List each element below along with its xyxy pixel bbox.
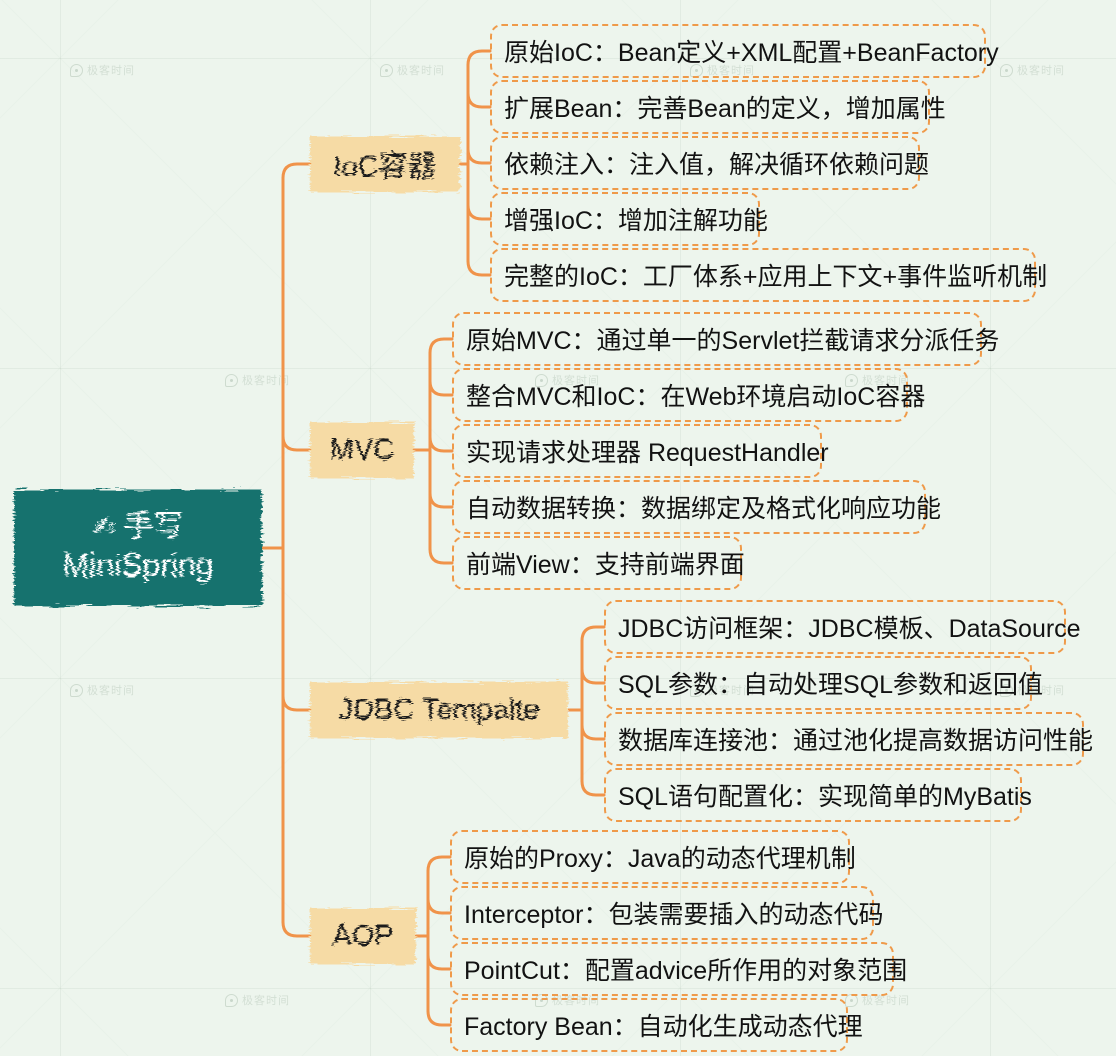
- leaf-node-4-4[interactable]: Factory Bean：自动化生成动态代理: [450, 998, 848, 1052]
- watermark-label: 极客时间: [397, 62, 445, 78]
- leaf-label: Factory Bean：自动化生成动态代理: [464, 1007, 863, 1043]
- leaf-label: 完整的IoC：工厂体系+应用上下文+事件监听机制: [504, 257, 1047, 293]
- leaf-node-1-5[interactable]: 完整的IoC：工厂体系+应用上下文+事件监听机制: [490, 248, 1036, 302]
- watermark-label: 极客时间: [87, 682, 135, 698]
- leaf-label: 数据库连接池：通过池化提高数据访问性能: [618, 721, 1093, 757]
- watermark: 极客时间: [225, 372, 290, 388]
- mindmap-canvas: 极客时间极客时间极客时间极客时间极客时间极客时间极客时间极客时间极客时间极客时间…: [0, 0, 1116, 1056]
- leaf-node-2-2[interactable]: 整合MVC和IoC：在Web环境启动IoC容器: [452, 368, 908, 422]
- branch-node-4[interactable]: AOP: [310, 908, 416, 964]
- watermark-label: 极客时间: [242, 372, 290, 388]
- leaf-label: 增强IoC：增加注解功能: [504, 201, 768, 237]
- branch-node-3[interactable]: JDBC Tempalte: [310, 682, 568, 738]
- leaf-node-1-1[interactable]: 原始IoC：Bean定义+XML配置+BeanFactory: [490, 24, 986, 78]
- location-pin-icon: [225, 994, 238, 1007]
- leaf-node-2-1[interactable]: 原始MVC：通过单一的Servlet拦截请求分派任务: [452, 312, 982, 366]
- branch-node-2[interactable]: MVC: [310, 422, 414, 478]
- watermark: 极客时间: [70, 62, 135, 78]
- root-label-handwrite: 手写: [123, 510, 183, 545]
- location-pin-icon: [1000, 64, 1013, 77]
- leaf-node-2-4[interactable]: 自动数据转换：数据绑定及格式化响应功能: [452, 480, 926, 534]
- watermark: 极客时间: [70, 682, 135, 698]
- leaf-node-4-2[interactable]: Interceptor：包装需要插入的动态代码: [450, 886, 874, 940]
- leaf-node-1-4[interactable]: 增强IoC：增加注解功能: [490, 192, 760, 246]
- branch-label: AOP: [332, 920, 393, 953]
- leaf-node-3-1[interactable]: JDBC访问框架：JDBC模板、DataSource: [604, 600, 1066, 654]
- leaf-label: JDBC访问框架：JDBC模板、DataSource: [618, 609, 1081, 645]
- leaf-node-1-2[interactable]: 扩展Bean：完善Bean的定义，增加属性: [490, 80, 930, 134]
- watermark: 极客时间: [225, 992, 290, 1008]
- watermark-label: 极客时间: [87, 62, 135, 78]
- leaf-node-3-4[interactable]: SQL语句配置化：实现简单的MyBatis: [604, 768, 1022, 822]
- branch-label: MVC: [330, 434, 394, 467]
- leaf-label: SQL语句配置化：实现简单的MyBatis: [618, 777, 1032, 813]
- writing-hand-icon: ✍: [93, 514, 116, 541]
- branch-node-1[interactable]: IoC容器: [310, 136, 460, 192]
- branch-label: IoC容器: [333, 143, 436, 185]
- leaf-label: 依赖注入：注入值，解决循环依赖问题: [504, 145, 929, 181]
- watermark: 极客时间: [1000, 62, 1065, 78]
- root-title-line1: ✍ 手写: [93, 510, 184, 545]
- leaf-node-2-3[interactable]: 实现请求处理器 RequestHandler: [452, 424, 822, 478]
- leaf-label: 自动数据转换：数据绑定及格式化响应功能: [466, 489, 941, 525]
- leaf-node-4-1[interactable]: 原始的Proxy：Java的动态代理机制: [450, 830, 850, 884]
- leaf-label: SQL参数：自动处理SQL参数和返回值: [618, 665, 1043, 701]
- watermark: 极客时间: [380, 62, 445, 78]
- leaf-node-3-2[interactable]: SQL参数：自动处理SQL参数和返回值: [604, 656, 1032, 710]
- location-pin-icon: [380, 64, 393, 77]
- leaf-label: PointCut：配置advice所作用的对象范围: [464, 951, 907, 987]
- leaf-label: 整合MVC和IoC：在Web环境启动IoC容器: [466, 377, 925, 413]
- leaf-node-3-3[interactable]: 数据库连接池：通过池化提高数据访问性能: [604, 712, 1084, 766]
- leaf-node-2-5[interactable]: 前端View：支持前端界面: [452, 536, 742, 590]
- leaf-label: 前端View：支持前端界面: [466, 545, 745, 581]
- leaf-node-4-3[interactable]: PointCut：配置advice所作用的对象范围: [450, 942, 894, 996]
- watermark-label: 极客时间: [1017, 62, 1065, 78]
- branch-label: JDBC Tempalte: [339, 694, 540, 727]
- watermark-label: 极客时间: [242, 992, 290, 1008]
- root-node[interactable]: ✍ 手写 MiniSpring: [14, 490, 262, 606]
- leaf-node-1-3[interactable]: 依赖注入：注入值，解决循环依赖问题: [490, 136, 920, 190]
- location-pin-icon: [70, 64, 83, 77]
- leaf-label: 原始的Proxy：Java的动态代理机制: [464, 839, 856, 875]
- leaf-label: Interceptor：包装需要插入的动态代码: [464, 895, 884, 931]
- leaf-label: 原始IoC：Bean定义+XML配置+BeanFactory: [504, 33, 999, 69]
- root-label-minispring: MiniSpring: [62, 547, 213, 584]
- leaf-label: 原始MVC：通过单一的Servlet拦截请求分派任务: [466, 321, 999, 357]
- leaf-label: 扩展Bean：完善Bean的定义，增加属性: [504, 89, 946, 125]
- location-pin-icon: [70, 684, 83, 697]
- leaf-label: 实现请求处理器 RequestHandler: [466, 433, 829, 469]
- location-pin-icon: [225, 374, 238, 387]
